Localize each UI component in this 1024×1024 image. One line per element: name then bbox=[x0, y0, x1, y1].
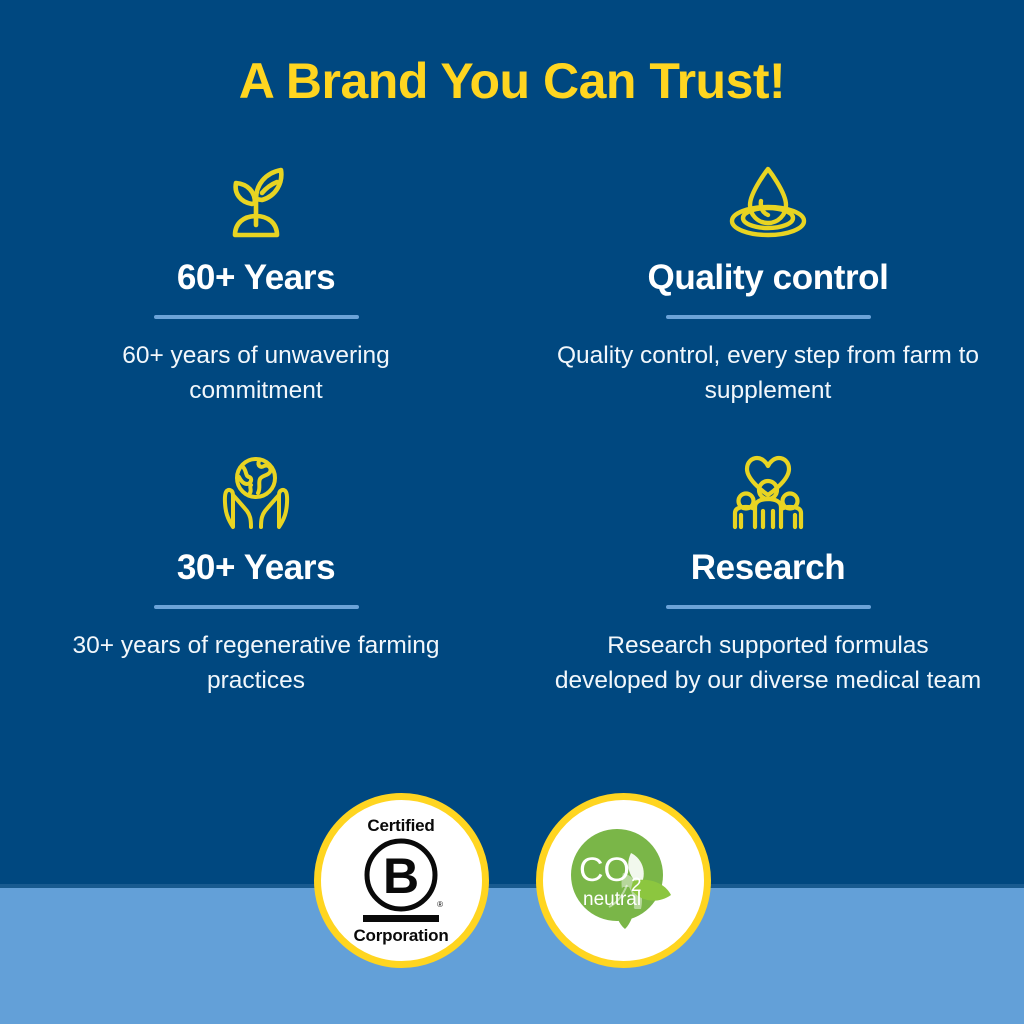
feature-divider bbox=[666, 605, 871, 609]
certification-badges: Certified B ® Corporation bbox=[0, 793, 1024, 968]
feature-title: 60+ Years bbox=[177, 258, 335, 298]
b-corporation-badge: Certified B ® Corporation bbox=[314, 793, 489, 968]
bcorp-corporation-label: Corporation bbox=[353, 927, 448, 944]
co2-neutral-label: neutral bbox=[583, 889, 641, 910]
feature-divider bbox=[154, 605, 359, 609]
feature-title: Quality control bbox=[648, 258, 889, 298]
feature-description: 30+ years of regenerative farming practi… bbox=[56, 629, 456, 699]
hands-holding-globe-icon bbox=[213, 450, 299, 536]
people-heart-icon bbox=[725, 450, 811, 536]
feature-description: Quality control, every step from farm to… bbox=[548, 339, 988, 409]
co2-formula: CO bbox=[579, 851, 630, 889]
feature-title: 30+ Years bbox=[177, 548, 335, 588]
water-drop-icon bbox=[725, 160, 811, 246]
feature-divider bbox=[154, 315, 359, 319]
feature-card-research: Research Research supported formulas dev… bbox=[512, 450, 1024, 750]
sprout-icon bbox=[213, 160, 299, 246]
bcorp-certified-label: Certified bbox=[367, 817, 434, 834]
co2-neutral-artwork: CO 2 neutral bbox=[557, 815, 689, 947]
feature-description: 60+ years of unwavering commitment bbox=[56, 339, 456, 409]
bcorp-b-mark: B ® bbox=[363, 837, 439, 913]
feature-divider bbox=[666, 315, 871, 319]
feature-card-30-years: 30+ Years 30+ years of regenerative farm… bbox=[0, 450, 512, 750]
page-title: A Brand You Can Trust! bbox=[0, 54, 1024, 109]
infographic-canvas: A Brand You Can Trust! 60+ Years 60+ yea… bbox=[0, 0, 1024, 1024]
feature-card-quality-control: Quality control Quality control, every s… bbox=[512, 160, 1024, 450]
registered-trademark-symbol: ® bbox=[437, 901, 443, 909]
co2-neutral-badge: CO 2 neutral bbox=[536, 793, 711, 968]
feature-description: Research supported formulas developed by… bbox=[548, 629, 988, 699]
feature-card-60-years: 60+ Years 60+ years of unwavering commit… bbox=[0, 160, 512, 450]
svg-text:B: B bbox=[383, 848, 419, 904]
feature-grid: 60+ Years 60+ years of unwavering commit… bbox=[0, 160, 1024, 750]
bcorp-rule bbox=[363, 915, 439, 922]
feature-title: Research bbox=[691, 548, 845, 588]
